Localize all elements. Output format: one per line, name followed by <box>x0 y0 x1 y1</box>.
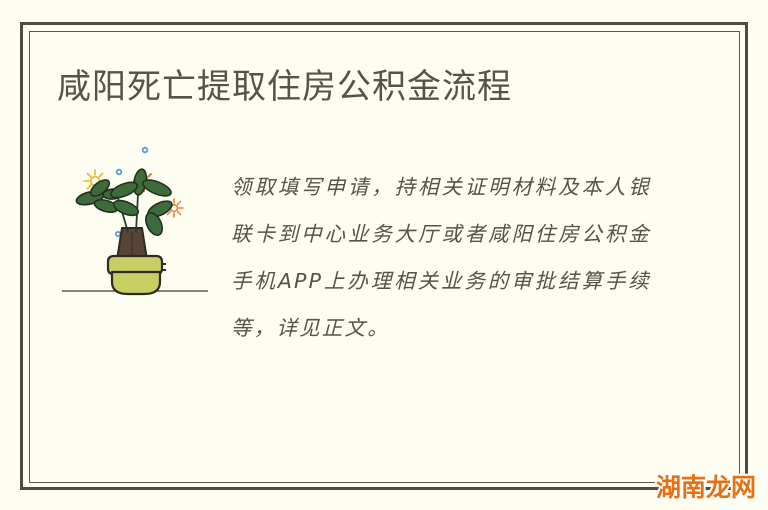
plant-pot <box>108 256 166 294</box>
site-watermark: 湖南龙网 <box>656 475 756 500</box>
sparkle-blue-dot-mid <box>116 169 122 175</box>
potted-plant-illustration <box>56 136 216 308</box>
article-card: 咸阳死亡提取住房公积金流程 <box>0 0 768 510</box>
page-title: 咸阳死亡提取住房公积金流程 <box>57 64 512 110</box>
sparkle-blue-dot-top <box>142 147 148 153</box>
body-paragraph: 领取填写申请，持相关证明材料及本人银联卡到中心业务大厅或者咸阳住房公积金手机AP… <box>231 164 651 352</box>
